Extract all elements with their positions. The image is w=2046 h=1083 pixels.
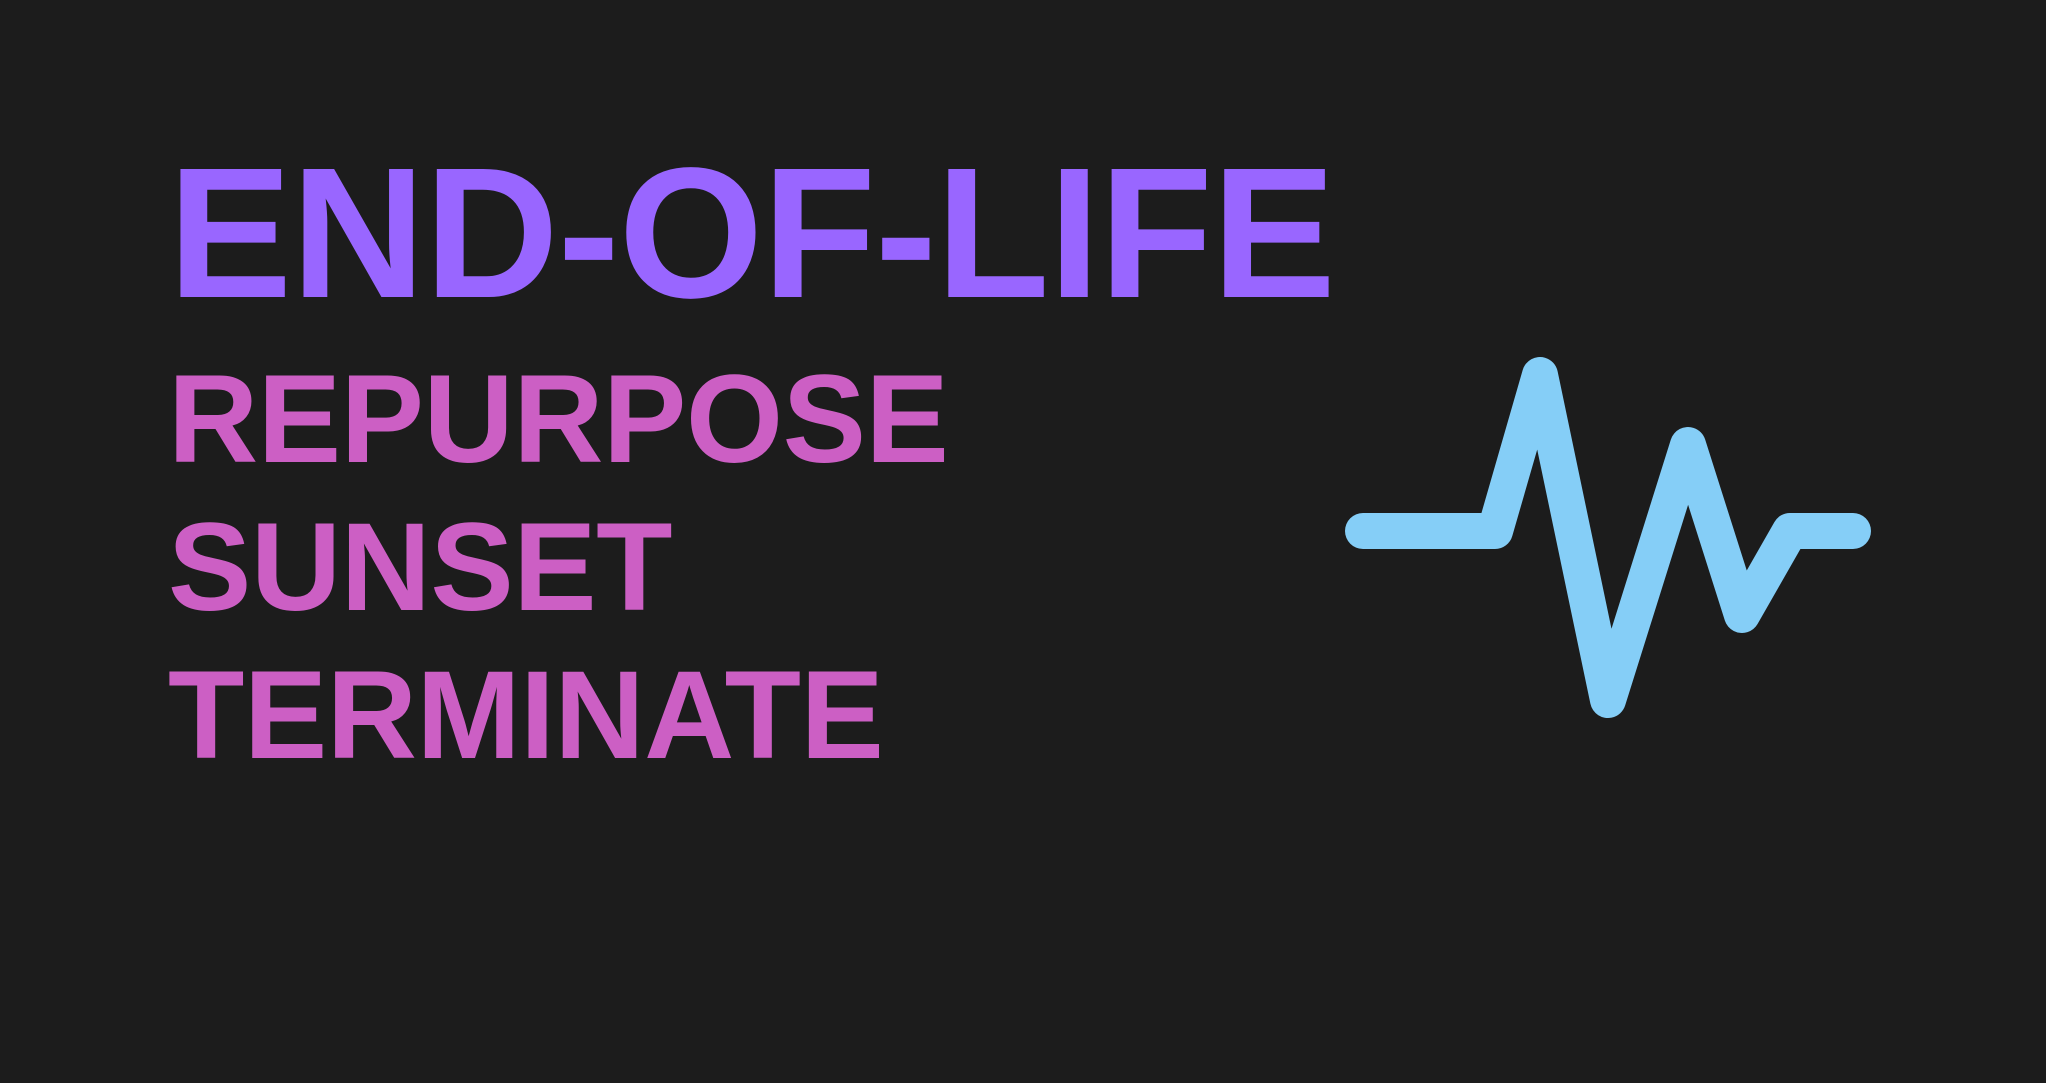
list-item: REPURPOSE	[168, 346, 1248, 494]
slide-canvas: END-OF-LIFE REPURPOSE SUNSET TERMINATE	[0, 0, 2046, 1083]
list-item: SUNSET	[168, 494, 1248, 642]
waveform-pulse-icon	[1340, 340, 1880, 740]
list-item: TERMINATE	[168, 642, 1248, 790]
text-block: END-OF-LIFE REPURPOSE SUNSET TERMINATE	[168, 150, 1248, 790]
waveform-path	[1363, 375, 1853, 700]
keyword-list: REPURPOSE SUNSET TERMINATE	[168, 346, 1248, 790]
page-title: END-OF-LIFE	[168, 150, 1248, 318]
